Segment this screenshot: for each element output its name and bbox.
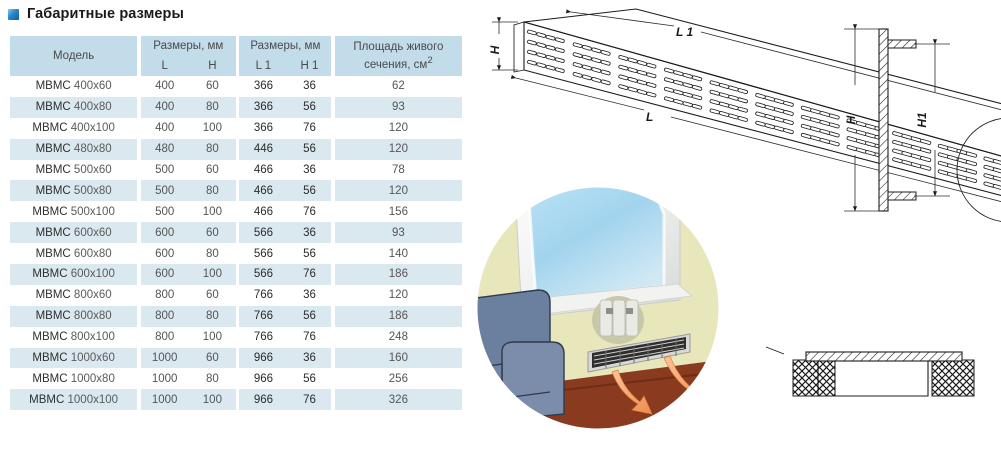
louver-slot [692,85,702,91]
louver-slot [664,68,674,74]
louver-slot [719,102,729,108]
model-dimensions: 480x80 [74,143,112,155]
table-row: МВМС 480x804808044656120 [10,139,462,160]
dimension-label-l1: L 1 [676,25,693,39]
louver-slots [527,30,1001,195]
cell-l1: 566 [239,243,287,264]
cell-h1: 56 [288,243,332,264]
louver-slot [765,123,775,129]
cell-area: 186 [335,306,462,327]
louver-slot [774,126,784,132]
louver-slot [546,65,556,71]
column-header-area-sup: 2 [427,55,432,66]
table-row: МВМС 800x10080010076676248 [10,327,462,348]
cell-area: 78 [335,160,462,181]
louver-slot [628,67,638,73]
cell-h: 60 [189,222,236,243]
table-row: МВМС 1000x6010006096636160 [10,348,462,369]
cell-l1: 766 [239,285,287,306]
louver-slot [993,176,1001,182]
louver-slot [536,42,546,48]
table-row: МВМС 600x10060010056676186 [10,264,462,285]
model-dimensions: 400x60 [74,80,112,92]
column-header-l: L [141,55,189,76]
louver-slot [755,121,765,127]
column-header-group-2: Размеры, мм [239,36,331,55]
louver-slot [646,72,656,78]
cell-model: МВМС 600x100 [10,264,137,285]
louver-slot [692,75,702,81]
cell-l1: 966 [239,348,287,369]
model-dimensions: 800x80 [74,310,112,322]
model-prefix: МВМС [36,80,71,92]
table-row: МВМС 500x60500604663678 [10,160,462,181]
cell-model: МВМС 1000x80 [10,368,137,389]
louver-slot [546,35,556,41]
cell-l: 800 [141,306,189,327]
cell-h1: 56 [288,368,332,389]
cell-area: 248 [335,327,462,348]
louver-slot [664,87,674,93]
louver-slot [829,132,840,138]
model-dimensions: 1000x80 [71,373,115,385]
cell-area: 140 [335,243,462,264]
louver-slot [856,139,867,145]
louver-slot [719,92,729,98]
louver-slot [865,124,876,130]
louver-slot [820,138,831,144]
louver-slot [993,159,1001,165]
louver-slot [618,75,628,81]
cell-area: 160 [335,348,462,369]
louver-slot [573,42,583,48]
cell-model: МВМС 600x80 [10,243,137,264]
cell-model: МВМС 800x100 [10,327,137,348]
louver-slot [546,45,556,51]
louver-slot [683,92,693,98]
model-dimensions: 600x80 [74,248,112,260]
louver-slot [646,92,656,98]
louver-slot [829,123,840,129]
model-dimensions: 1000x60 [71,352,115,364]
louver-slot [783,110,793,116]
model-prefix: МВМС [36,143,71,155]
cell-l1: 466 [239,201,287,222]
cell-l: 400 [141,76,189,97]
cell-h1: 56 [288,306,332,327]
louver-slot [683,73,693,79]
cell-model: МВМС 600x60 [10,222,137,243]
cell-area: 256 [335,368,462,389]
model-prefix: МВМС [36,164,71,176]
model-dimensions: 400x80 [74,101,112,113]
louver-slot [582,45,592,51]
mounting-section-drawing [766,347,974,396]
louver-slot [801,106,812,112]
cell-l: 500 [141,201,189,222]
louver-slot [966,169,977,175]
cell-model: МВМС 400x60 [10,76,137,97]
cell-l1: 366 [239,76,287,97]
louver-slot [601,70,611,76]
artwork-panel: L 1 L H H [466,0,1001,464]
cell-h: 100 [189,118,236,139]
louver-slot [765,105,775,111]
louver-slot [555,67,565,73]
louver-slot [673,89,683,95]
louver-slot [591,67,601,73]
column-header-group-1: Размеры, мм [141,36,236,55]
louver-slot [719,111,729,117]
louver-slot [728,95,738,101]
louver-slot [829,140,840,146]
louver-slot [783,101,793,107]
model-dimensions: 500x60 [74,164,112,176]
cell-model: МВМС 480x80 [10,139,137,160]
louver-slot [527,40,537,46]
louver-slot [573,52,583,58]
column-header-area: Площадь живого сечения, см2 [335,36,462,76]
cell-l: 500 [141,180,189,201]
louver-slot [555,37,565,43]
cell-h1: 56 [288,97,332,118]
louver-slot [738,88,748,94]
model-prefix: МВМС [36,185,71,197]
cell-l: 1000 [141,348,189,369]
cell-area: 120 [335,139,462,160]
louver-slot [810,108,821,114]
cell-h1: 76 [288,327,332,348]
room-installation-illustration [466,150,720,430]
model-dimensions: 800x100 [71,331,115,343]
model-prefix: МВМС [32,206,67,218]
louver-slot [856,148,867,154]
louver-slot [673,80,683,86]
cell-area: 93 [335,222,462,243]
louver-slot [847,145,858,151]
louver-slot [810,126,821,132]
cell-l1: 766 [239,327,287,348]
louver-slot [801,133,812,139]
louver-slot [920,156,931,162]
louver-slot [582,65,592,71]
cell-l1: 766 [239,306,287,327]
model-prefix: МВМС [36,101,71,113]
louver-slot [865,133,876,139]
louver-slot [601,80,611,86]
cell-l1: 366 [239,118,287,139]
louver-slot [573,72,583,78]
louver-slot [783,128,793,134]
cell-h1: 76 [288,201,332,222]
louver-slot [966,152,977,158]
louver-slot [637,60,647,66]
cell-h: 60 [189,160,236,181]
table-row: МВМС 800x808008076656186 [10,306,462,327]
column-header-h: H [189,55,236,76]
cell-l1: 566 [239,264,287,285]
cell-l1: 466 [239,160,287,181]
louver-slot [601,60,611,66]
louver-slot [646,82,656,88]
column-header-model: Модель [10,36,137,76]
cell-area: 326 [335,389,462,410]
louver-slot [801,115,812,121]
louver-slot [673,70,683,76]
table-row: МВМС 500x805008046656120 [10,180,462,201]
model-dimensions: 400x100 [71,122,115,134]
louver-slot [755,102,765,108]
cell-l1: 466 [239,180,287,201]
louver-slot [810,135,821,141]
louver-slot [664,77,674,83]
louver-slot [847,136,858,142]
table-row: МВМС 600x60600605663693 [10,222,462,243]
louver-slot [810,117,821,123]
louver-slot [966,160,977,166]
louver-slot [527,50,537,56]
louver-slot [646,63,656,69]
louver-slot [527,60,537,66]
louver-slot [774,117,784,123]
cell-h1: 36 [288,160,332,181]
louver-slot [591,48,601,54]
cell-h1: 76 [288,118,332,139]
louver-slot [673,99,683,105]
louver-slot [618,55,628,61]
louver-slot [536,32,546,38]
louver-slot [692,94,702,100]
dimension-label-h-section: H [844,115,858,124]
model-prefix: МВМС [32,268,67,280]
louver-slot [527,30,537,36]
louver-slot [738,107,748,113]
model-prefix: МВМС [36,227,71,239]
louver-slot [719,83,729,89]
louver-slot [618,84,628,90]
dimensions-table: Модель Размеры, мм Размеры, мм Площадь ж… [10,36,462,410]
cell-h: 60 [189,348,236,369]
cell-area: 120 [335,285,462,306]
cell-h: 80 [189,97,236,118]
louver-slot [728,86,738,92]
cell-h: 100 [189,264,236,285]
table-row: МВМС 400x10040010036676120 [10,118,462,139]
cell-h: 100 [189,327,236,348]
cell-h: 60 [189,76,236,97]
louver-slot [692,104,702,110]
cell-l: 600 [141,264,189,285]
louver-slot [536,52,546,58]
table-header: Модель Размеры, мм Размеры, мм Площадь ж… [10,36,462,76]
louver-slot [546,55,556,61]
cell-h: 60 [189,285,236,306]
cell-h1: 36 [288,285,332,306]
louver-slot [628,58,638,64]
cell-h: 80 [189,243,236,264]
cell-model: МВМС 500x80 [10,180,137,201]
louver-slot [591,57,601,63]
louver-slot [829,114,840,120]
louver-slot [710,90,720,96]
model-dimensions: 600x60 [74,227,112,239]
cell-area: 62 [335,76,462,97]
louver-slot [801,124,812,130]
table-row: МВМС 400x60400603663662 [10,76,462,97]
louver-slot [865,141,876,147]
louver-slot [710,80,720,86]
cell-h1: 36 [288,76,332,97]
cell-h: 80 [189,368,236,389]
cell-model: МВМС 1000x100 [10,389,137,410]
model-dimensions: 1000x100 [68,394,119,406]
louver-slot [628,87,638,93]
louver-slot [966,177,977,183]
cell-h1: 56 [288,180,332,201]
louver-slot [765,96,775,102]
model-dimensions: 800x60 [74,289,112,301]
armchair-illustration [466,290,564,428]
model-dimensions: 500x100 [71,206,115,218]
louver-slot [637,89,647,95]
cell-model: МВМС 500x100 [10,201,137,222]
cell-l: 400 [141,118,189,139]
louver-slot [618,65,628,71]
cell-h: 80 [189,139,236,160]
louver-slot [628,77,638,83]
cell-h: 100 [189,201,236,222]
page-title-block: Габаритные размеры [8,6,184,22]
cell-h1: 76 [288,389,332,410]
cell-h: 100 [189,389,236,410]
dimension-label-h1-section: H1 [915,112,929,128]
cell-l: 600 [141,222,189,243]
louver-slot [683,82,693,88]
louver-slot [993,184,1001,190]
cell-model: МВМС 800x60 [10,285,137,306]
column-header-l1: L 1 [239,55,287,76]
model-prefix: МВМС [36,289,71,301]
cell-l: 600 [141,243,189,264]
table-row: МВМС 400x80400803665693 [10,97,462,118]
louver-slot [555,57,565,63]
louver-slot [765,114,775,120]
cross-section-drawing: H H1 [844,29,950,211]
model-dimensions: 600x100 [71,268,115,280]
bullet-icon [8,9,19,20]
cell-area: 120 [335,180,462,201]
cell-h: 80 [189,180,236,201]
column-header-h1: H 1 [288,55,332,76]
cell-h1: 36 [288,348,332,369]
cell-h1: 56 [288,139,332,160]
louver-slot [738,98,748,104]
louver-slot [820,111,831,117]
dimension-h-iso: H [488,22,518,70]
cell-l: 1000 [141,368,189,389]
cell-l: 800 [141,285,189,306]
table-row: МВМС 1000x8010008096656256 [10,368,462,389]
table-row: МВМС 500x10050010046676156 [10,201,462,222]
louver-slot [820,120,831,126]
louver-slot [637,70,647,76]
cell-model: МВМС 500x60 [10,160,137,181]
cell-area: 120 [335,118,462,139]
louver-slot [710,99,720,105]
louver-slot [993,168,1001,174]
louver-slot [738,116,748,122]
louver-slot [774,107,784,113]
louver-slot [755,112,765,118]
louver-slot [865,150,876,156]
model-prefix: МВМС [32,352,67,364]
louver-slot [920,165,931,171]
table-body: МВМС 400x60400603663662МВМС 400x80400803… [10,76,462,410]
louver-slot [683,101,693,107]
cell-l1: 966 [239,389,287,410]
louver-slot [728,104,738,110]
cell-l: 800 [141,327,189,348]
louver-slot [710,109,720,115]
cell-area: 186 [335,264,462,285]
cell-h: 80 [189,306,236,327]
cell-l: 480 [141,139,189,160]
model-prefix: МВМС [36,310,71,322]
louver-slot [774,98,784,104]
louver-slot [920,147,931,153]
table-header-row-1: Модель Размеры, мм Размеры, мм Площадь ж… [10,36,462,55]
cell-l1: 566 [239,222,287,243]
louver-slot [573,62,583,68]
cell-l1: 446 [239,139,287,160]
louver-slot [820,129,831,135]
louver-slot [536,62,546,68]
cell-area: 156 [335,201,462,222]
cell-model: МВМС 400x100 [10,118,137,139]
dimension-label-l: L [646,110,653,124]
cell-model: МВМС 800x80 [10,306,137,327]
louver-slot [637,80,647,86]
dimension-label-h-iso: H [488,45,502,54]
cell-model: МВМС 1000x60 [10,348,137,369]
cell-h1: 36 [288,222,332,243]
louver-slot [582,75,592,81]
table-row: МВМС 600x806008056656140 [10,243,462,264]
louver-slot [847,127,858,133]
cell-l: 500 [141,160,189,181]
louver-slot [920,139,931,145]
cell-model: МВМС 400x80 [10,97,137,118]
mount-leader-line [766,347,784,354]
louver-slot [856,130,867,136]
louver-slot [601,50,611,56]
louver-slot [582,55,592,61]
model-prefix: МВМС [32,331,67,343]
model-prefix: МВМС [36,248,71,260]
page-title: Габаритные размеры [27,6,184,22]
cell-h1: 76 [288,264,332,285]
model-prefix: МВМС [32,373,67,385]
model-dimensions: 500x80 [74,185,112,197]
model-prefix: МВМС [29,394,64,406]
cell-l1: 966 [239,368,287,389]
louver-slot [728,114,738,120]
louver-slot [755,93,765,99]
louver-slot [783,119,793,125]
model-prefix: МВМС [32,122,67,134]
louver-slot [591,77,601,83]
cell-l: 400 [141,97,189,118]
